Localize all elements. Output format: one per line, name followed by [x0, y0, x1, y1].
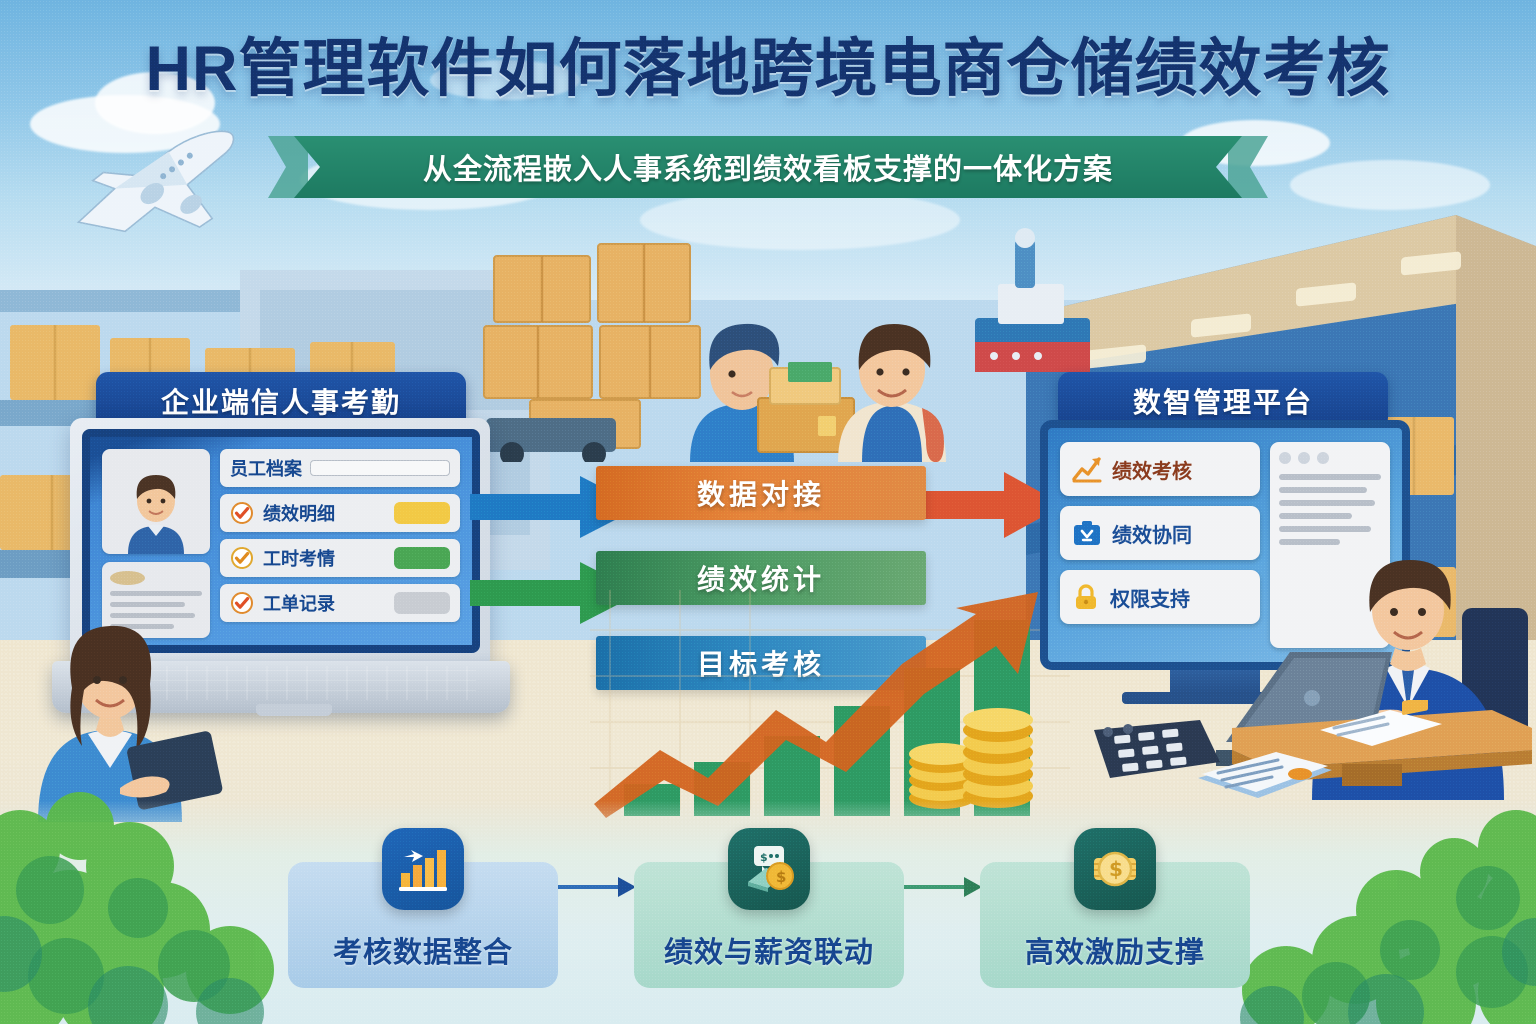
subtitle-ribbon: 从全流程嵌入人事系统到绩效看板支撑的一体化方案: [268, 136, 1268, 198]
lock-icon: [1072, 583, 1100, 611]
warehouse-workers-scene: [470, 222, 1090, 462]
status-badge: [394, 547, 450, 569]
search-input[interactable]: [310, 460, 450, 476]
platform-card-label: 绩效协同: [1112, 519, 1192, 548]
platform-card-assessment[interactable]: 绩效考核: [1060, 442, 1260, 496]
search-label: 员工档案: [230, 455, 302, 481]
status-badge: [394, 592, 450, 614]
bar-chart-icon: [397, 845, 449, 893]
chart-growth-icon: [1072, 455, 1102, 483]
payment-coin-icon: $ $: [742, 844, 796, 894]
process-icon-3: $: [1074, 828, 1156, 910]
process-icon-1: [382, 828, 464, 910]
list-item-label: 工单记录: [263, 590, 385, 616]
process-step-label: 考核数据整合: [333, 929, 513, 971]
svg-text:$: $: [776, 868, 786, 886]
status-badge: [394, 502, 450, 524]
coin-stack-icon: [898, 690, 1038, 810]
flow-bar-label: 数据对接: [697, 473, 825, 513]
subtitle-text: 从全流程嵌入人事系统到绩效看板支撑的一体化方案: [423, 146, 1113, 188]
list-item-label: 绩效明细: [263, 500, 385, 526]
right-callout-label: 数智管理平台: [1133, 381, 1313, 421]
report-document-icon: [1316, 700, 1446, 760]
check-circle-icon: [230, 501, 254, 525]
search-row[interactable]: 员工档案: [220, 449, 460, 487]
process-step-label: 高效激励支撑: [1025, 929, 1205, 971]
avatar: [102, 449, 210, 554]
left-callout-label: 企业端信人事考勤: [161, 381, 401, 421]
page-title: HR管理软件如何落地跨境电商仓储绩效考核: [0, 36, 1536, 102]
process-step-label: 绩效与薪资联动: [664, 929, 874, 971]
platform-card-label: 权限支持: [1110, 583, 1190, 612]
svg-text:$: $: [1109, 857, 1123, 881]
list-item-label: 工时考情: [263, 545, 385, 571]
flow-bar-data-integration[interactable]: 数据对接: [596, 466, 926, 520]
process-icon-2: $ $: [728, 828, 810, 910]
money-bundle-icon: $: [1088, 844, 1142, 894]
platform-card-label: 绩效考核: [1112, 455, 1192, 484]
briefcase-inbox-icon: [1072, 519, 1102, 547]
infographic-canvas: HR管理软件如何落地跨境电商仓储绩效考核 从全流程嵌入人事系统到绩效看板支撑的一…: [0, 0, 1536, 1024]
list-item[interactable]: 绩效明细: [220, 494, 460, 532]
svg-text:$: $: [760, 851, 768, 864]
